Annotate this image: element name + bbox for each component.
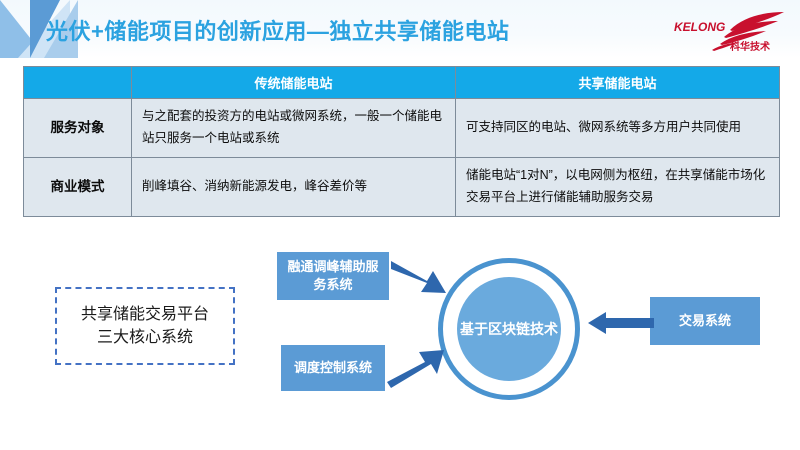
blockchain-core-circle: 基于区块链技术 [457,277,561,381]
logo-chinese-text: 科华技术 [730,40,770,53]
arrow-peak-shaving-to-center [389,253,449,303]
table-row: 服务对象 与之配套的投资方的电站或微网系统，一般一个储能电站只服务一个电站或系统… [24,99,780,158]
logo-latin-text: KELONG [674,20,725,34]
table-header-row: 传统储能电站 共享储能电站 [24,67,780,99]
system-box-peak-shaving[interactable]: 融通调峰辅助服务系统 [277,252,389,300]
platform-callout-box: 共享储能交易平台 三大核心系统 [55,287,235,365]
comparison-table: 传统储能电站 共享储能电站 服务对象 与之配套的投资方的电站或微网系统，一般一个… [23,66,780,217]
cell-shared-business-model: 储能电站“1对N”，以电网侧为枢纽，在共享储能市场化交易平台上进行储能辅助服务交… [456,157,780,216]
table-header-traditional: 传统储能电站 [132,67,456,99]
slide-header: 光伏+储能项目的创新应用—独立共享储能电站 KELONG 科华技术 [0,0,800,58]
row-label-service-target: 服务对象 [24,99,132,158]
architecture-diagram: 共享储能交易平台 三大核心系统 融通调峰辅助服务系统 调度控制系统 交易系统 基… [0,240,800,440]
slide-title: 光伏+储能项目的创新应用—独立共享储能电站 [46,14,509,46]
slide-footer [0,440,800,450]
system-box-dispatch[interactable]: 调度控制系统 [281,345,385,391]
cell-traditional-business-model: 削峰填谷、消纳新能源发电，峰谷差价等 [132,157,456,216]
table-row: 商业模式 削峰填谷、消纳新能源发电，峰谷差价等 储能电站“1对N”，以电网侧为枢… [24,157,780,216]
platform-callout-line1: 共享储能交易平台 [81,305,209,324]
row-label-business-model: 商业模式 [24,157,132,216]
arrow-trading-to-center [588,310,654,336]
table-header-corner [24,67,132,99]
platform-callout-line2: 三大核心系统 [97,328,193,347]
arrow-dispatch-to-center [385,338,447,390]
system-box-trading[interactable]: 交易系统 [650,297,760,345]
table-header-shared: 共享储能电站 [456,67,780,99]
kelong-logo: KELONG 科华技术 [674,4,786,54]
cell-traditional-service-target: 与之配套的投资方的电站或微网系统，一般一个储能电站只服务一个电站或系统 [132,99,456,158]
cell-shared-service-target: 可支持同区的电站、微网系统等多方用户共同使用 [456,99,780,158]
